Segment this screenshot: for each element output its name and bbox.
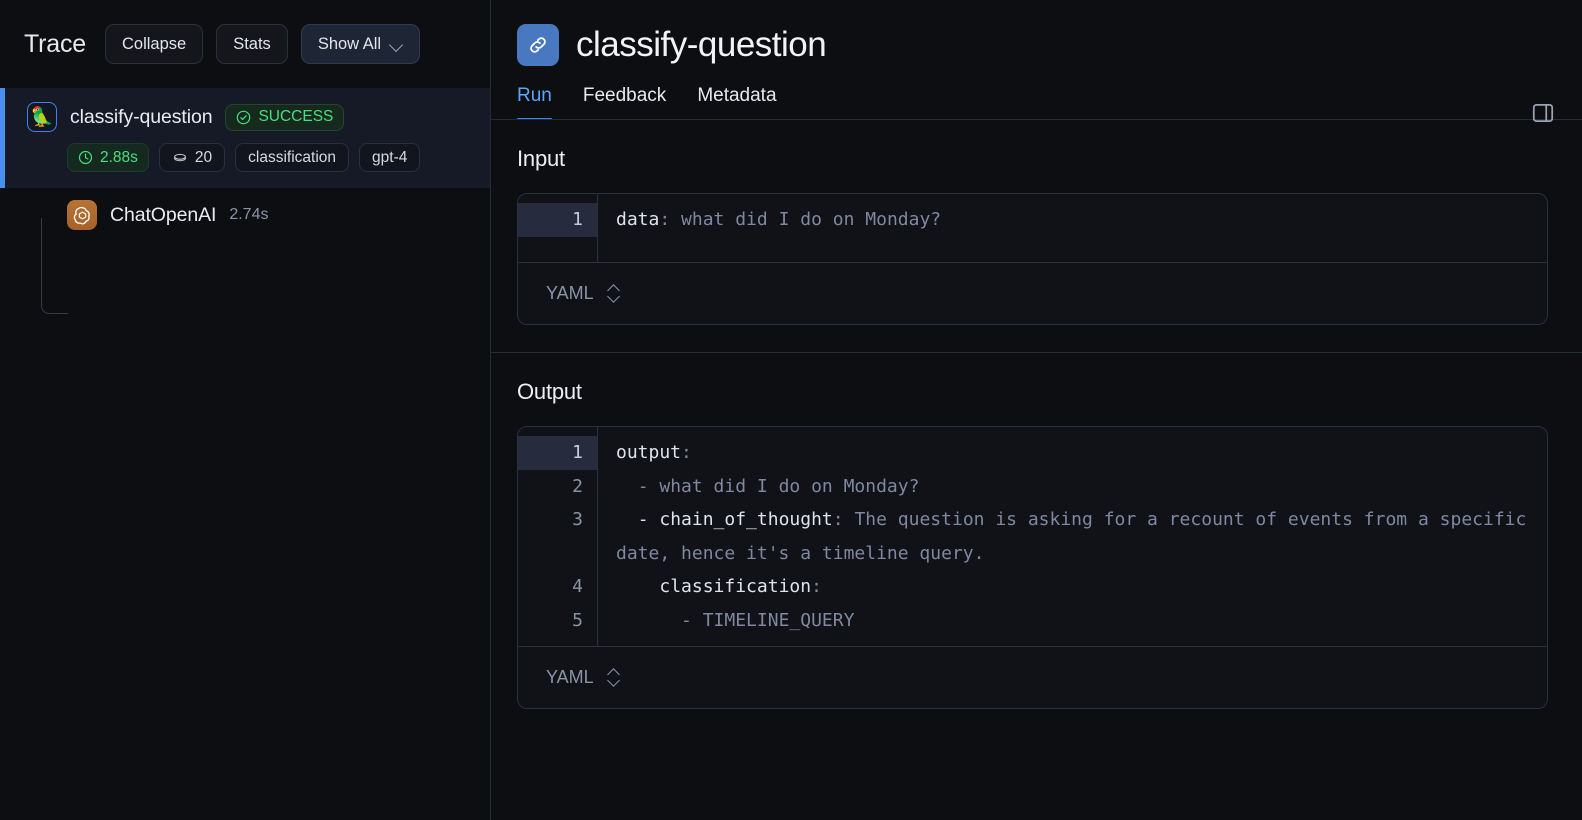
output-section-title: Output (517, 379, 1548, 405)
input-code-text[interactable]: data: what did I do on Monday? (598, 194, 1547, 262)
yaml-value: what did I do on Monday? (670, 209, 941, 230)
line-number: 4 (518, 570, 597, 604)
output-format-label: YAML (546, 667, 594, 688)
panel-layout-glyph (1530, 100, 1556, 126)
output-line-gutter: 1 2 3 . 4 5 (518, 427, 598, 646)
tag-badge-label: classification (248, 149, 336, 167)
yaml-key: output (616, 442, 681, 463)
yaml-colon: : (681, 442, 692, 463)
panel-layout-icon[interactable] (1530, 100, 1556, 126)
page-title: Trace (24, 30, 86, 59)
input-code-card: 1 data: what did I do on Monday? YAML (517, 193, 1548, 325)
input-format-label: YAML (546, 283, 594, 304)
openai-icon (67, 200, 97, 230)
tree-node-chatopenai[interactable]: ChatOpenAI 2.74s (0, 188, 490, 230)
clock-icon (78, 150, 93, 165)
line-number: 3 (518, 503, 597, 537)
yaml-value: - TIMELINE_QUERY (616, 610, 854, 631)
model-badge-label: gpt-4 (372, 149, 407, 167)
token-count-label: 20 (195, 149, 212, 167)
line-number-wrap: . (518, 537, 597, 571)
output-code-text[interactable]: output: - what did I do on Monday? - cha… (598, 427, 1547, 646)
check-circle-icon (236, 110, 251, 125)
tree-node-classify-question[interactable]: 🦜 classify-question SUCCESS (0, 88, 490, 188)
latency-badge-label: 2.88s (100, 149, 138, 167)
app-root: Trace Collapse Stats Show All 🦜 classify… (0, 0, 1582, 820)
show-all-button-label: Show All (318, 35, 381, 54)
line-number: 1 (518, 203, 597, 237)
tab-run-label: Run (517, 85, 552, 106)
tree-connector-line (41, 218, 68, 314)
trace-sidebar: Trace Collapse Stats Show All 🦜 classify… (0, 0, 491, 820)
collapse-button[interactable]: Collapse (105, 24, 203, 64)
collapse-button-label: Collapse (122, 35, 186, 54)
selection-accent-bar (0, 88, 5, 188)
tab-feedback[interactable]: Feedback (583, 85, 666, 120)
chevron-down-icon (390, 40, 403, 48)
yaml-colon: : (833, 509, 844, 530)
sidebar-header: Trace Collapse Stats Show All (0, 0, 490, 88)
yaml-colon: : (659, 209, 670, 230)
tab-run[interactable]: Run (517, 85, 552, 120)
tab-feedback-label: Feedback (583, 85, 666, 106)
line-number: 2 (518, 470, 597, 504)
parrot-icon: 🦜 (27, 102, 57, 132)
input-line-gutter: 1 (518, 194, 598, 262)
up-down-chevron-icon[interactable] (607, 284, 620, 303)
show-all-button[interactable]: Show All (301, 24, 420, 64)
stats-button-label: Stats (233, 35, 271, 54)
tab-metadata-label: Metadata (697, 85, 776, 106)
tree-child-header: ChatOpenAI 2.74s (0, 188, 490, 230)
yaml-key: - chain_of_thought (616, 509, 833, 530)
tabs-underline-rule (491, 119, 1582, 120)
output-code-card: 1 2 3 . 4 5 output: - what did I do on M… (517, 426, 1548, 709)
run-detail-panel: classify-question Run Feedback Metadata … (491, 0, 1582, 820)
run-tabs: Run Feedback Metadata (491, 66, 1582, 120)
token-count-badge: 20 (159, 143, 225, 172)
output-code-footer: YAML (518, 646, 1547, 708)
tree-node-label: classify-question (70, 106, 212, 129)
input-section: Input 1 data: what did I do on Monday? Y… (491, 120, 1582, 325)
yaml-colon: : (811, 576, 822, 597)
openai-logo-icon (72, 205, 93, 226)
line-number: 5 (518, 604, 597, 638)
stats-button[interactable]: Stats (216, 24, 288, 64)
yaml-key: classification (616, 576, 811, 597)
tab-metadata[interactable]: Metadata (697, 85, 776, 120)
input-section-title: Input (517, 146, 1548, 172)
output-code-body: 1 2 3 . 4 5 output: - what did I do on M… (518, 427, 1547, 646)
status-badge: SUCCESS (225, 104, 344, 131)
yaml-key: data (616, 209, 659, 230)
run-header: classify-question (491, 0, 1582, 66)
up-down-chevron-icon[interactable] (607, 668, 620, 687)
tree-child-latency: 2.74s (229, 206, 268, 224)
input-code-footer: YAML (518, 262, 1547, 324)
line-number: 1 (518, 436, 597, 470)
trace-tree: 🦜 classify-question SUCCESS (0, 88, 490, 230)
chain-link-glyph (526, 33, 550, 57)
output-section: Output 1 2 3 . 4 5 output: - what did I … (491, 353, 1582, 709)
tag-badge-model: gpt-4 (359, 143, 420, 172)
status-badge-label: SUCCESS (258, 108, 333, 126)
tag-badge-classification: classification (235, 143, 349, 172)
yaml-value: - what did I do on Monday? (616, 476, 919, 497)
input-code-body: 1 data: what did I do on Monday? (518, 194, 1547, 262)
tree-child-label: ChatOpenAI (110, 204, 216, 227)
run-title: classify-question (576, 25, 826, 65)
tree-node-header: 🦜 classify-question SUCCESS (0, 88, 490, 132)
latency-badge: 2.88s (67, 143, 149, 172)
token-icon (172, 150, 188, 166)
link-chain-icon (517, 24, 559, 66)
tree-node-badges: 2.88s 20 classification gpt-4 (0, 132, 490, 188)
